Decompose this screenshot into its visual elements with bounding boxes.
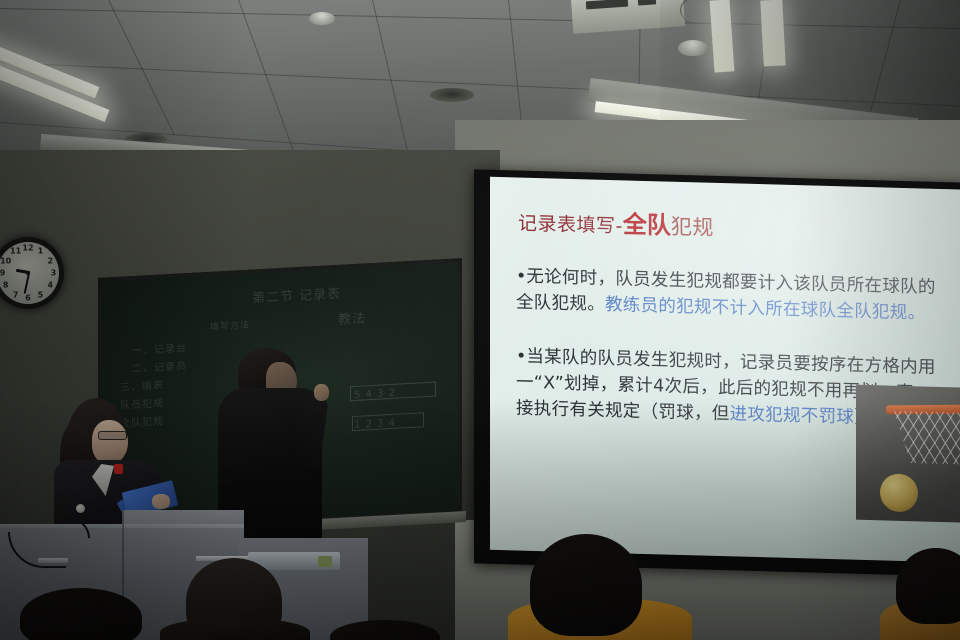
student-head-5 bbox=[896, 548, 960, 624]
slide-title: 记录表填写-全队犯规 bbox=[518, 202, 714, 242]
equipment-display bbox=[318, 556, 332, 567]
ceiling-speaker-center bbox=[430, 88, 474, 102]
bullet-2-line-3-blue: 进攻犯规不罚球 bbox=[730, 404, 855, 427]
projection-screen: 记录表填写-全队犯规 •无论何时，队员发生犯规都要计入该队员所在球队的 全队犯规… bbox=[474, 169, 960, 576]
basketball-net bbox=[894, 411, 960, 465]
presenter-face bbox=[92, 420, 128, 464]
clock-center-pin bbox=[26, 271, 30, 275]
student-shoulders-1 bbox=[160, 618, 310, 640]
basketball-ball bbox=[880, 473, 918, 512]
slide-title-tail: 犯规 bbox=[671, 215, 714, 240]
clock-minute-hand bbox=[24, 273, 30, 294]
student-head-2 bbox=[20, 588, 142, 640]
clock-face: 12 1 2 3 4 5 6 7 8 9 10 11 bbox=[0, 242, 59, 304]
bullet-1-line-2-black: 全队犯规。 bbox=[516, 292, 605, 314]
bullet-marker-2: • bbox=[516, 346, 526, 366]
slide-title-emphasis: 全队 bbox=[623, 210, 671, 239]
jacket-button bbox=[76, 504, 85, 513]
slide-title-dash: - bbox=[616, 215, 623, 237]
projected-slide: 记录表填写-全队犯规 •无论何时，队员发生犯规都要计入该队员所在球队的 全队犯规… bbox=[490, 177, 960, 563]
bullet-marker-1: • bbox=[516, 266, 526, 286]
writer-hand-with-chalk bbox=[314, 384, 329, 401]
basketball-hoop-image bbox=[856, 385, 960, 523]
bullet-2-line-3-black: 接执行有关规定（罚球，但 bbox=[516, 398, 730, 424]
slide-bullet-1: •无论何时，队员发生犯规都要计入该队员所在球队的 全队犯规。教练员的犯规不计入所… bbox=[516, 263, 960, 330]
presenter-glasses bbox=[98, 431, 127, 440]
student-head-4 bbox=[530, 534, 642, 636]
bullet-2-line-1: 当某队的队员发生犯规时，记录员要按序在方格内用 bbox=[526, 347, 935, 378]
slide-footer-mark: · · · · bbox=[608, 531, 631, 540]
slide-title-prefix: 记录表填写 bbox=[518, 213, 616, 238]
bullet-1-line-1: 无论何时，队员发生犯规都要计入该队员所在球队的 bbox=[526, 267, 935, 298]
bullet-2-line-2: 一“X”划掉，累计4次后，此后的犯规不用再划，直 bbox=[516, 372, 914, 403]
smoke-detector-left bbox=[309, 12, 335, 25]
bullet-1-line-2-blue: 教练员的犯规不计入所在球队全队犯规。 bbox=[605, 295, 925, 324]
red-badge bbox=[114, 464, 123, 474]
classroom-photo: 12 1 2 3 4 5 6 7 8 9 10 11 第二节 记录表 教法 填写… bbox=[0, 0, 960, 640]
presenter-hand bbox=[152, 494, 170, 509]
